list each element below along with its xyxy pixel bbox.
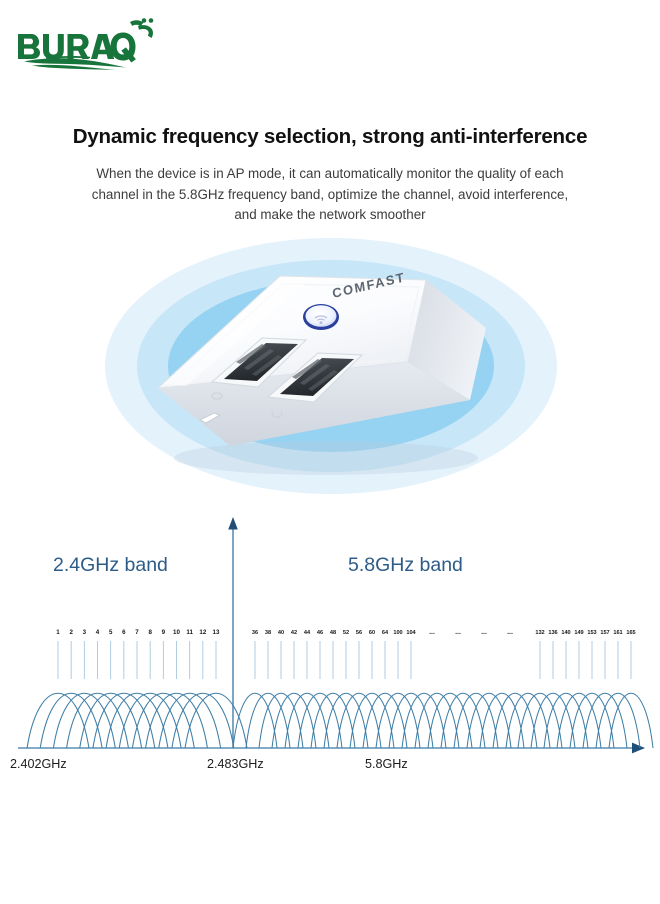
svg-text:36: 36 — [252, 630, 258, 636]
product-showcase: COMFAST — [0, 232, 660, 500]
svg-text:157: 157 — [600, 630, 609, 636]
svg-text:7: 7 — [135, 629, 139, 636]
svg-text:2: 2 — [69, 629, 73, 636]
page-subtitle: When the device is in AP mode, it can au… — [0, 164, 660, 226]
svg-text:6: 6 — [122, 629, 126, 636]
svg-text:...: ... — [429, 629, 435, 636]
svg-text:4: 4 — [96, 629, 100, 636]
svg-text:12: 12 — [199, 629, 206, 636]
svg-text:42: 42 — [291, 630, 297, 636]
page-title: Dynamic frequency selection, strong anti… — [0, 125, 660, 149]
chart-content: 1234567891011121336384042444648525660641… — [27, 629, 653, 748]
spectrum-chart-svg: 1234567891011121336384042444648525660641… — [0, 500, 660, 790]
svg-text:132: 132 — [535, 630, 544, 636]
svg-text:...: ... — [455, 629, 461, 636]
svg-text:1: 1 — [56, 629, 60, 636]
wifi-led-indicator[interactable] — [303, 304, 339, 330]
svg-text:11: 11 — [186, 629, 193, 636]
svg-text:...: ... — [507, 629, 513, 636]
svg-text:149: 149 — [574, 630, 583, 636]
svg-text:48: 48 — [330, 630, 336, 636]
svg-text:136: 136 — [548, 630, 557, 636]
svg-text:153: 153 — [587, 630, 596, 636]
svg-text:10: 10 — [173, 629, 180, 636]
spectrum-chart: 2.4GHz band 5.8GHz band 2.402GHz 2.483GH… — [0, 500, 660, 790]
subtitle-line-3: and make the network smoother — [28, 205, 632, 226]
svg-text:161: 161 — [613, 630, 622, 636]
svg-text:100: 100 — [393, 630, 402, 636]
buraq-logo-svg — [10, 12, 160, 70]
svg-text:60: 60 — [369, 630, 375, 636]
buraq-logo — [10, 12, 160, 70]
svg-text:52: 52 — [343, 630, 349, 636]
wall-ap-illustration: COMFAST — [140, 250, 510, 480]
product-device-image: COMFAST — [140, 250, 510, 480]
svg-text:38: 38 — [265, 630, 271, 636]
svg-text:165: 165 — [626, 630, 635, 636]
svg-text:8: 8 — [148, 629, 152, 636]
svg-text:40: 40 — [278, 630, 284, 636]
svg-text:...: ... — [481, 629, 487, 636]
svg-text:46: 46 — [317, 630, 323, 636]
svg-text:64: 64 — [382, 630, 389, 636]
svg-text:5: 5 — [109, 629, 113, 636]
svg-text:9: 9 — [162, 629, 166, 636]
svg-text:3: 3 — [83, 629, 87, 636]
svg-text:104: 104 — [406, 630, 416, 636]
svg-text:56: 56 — [356, 630, 362, 636]
svg-text:13: 13 — [213, 629, 220, 636]
svg-text:44: 44 — [304, 630, 311, 636]
subtitle-line-1: When the device is in AP mode, it can au… — [28, 164, 632, 185]
svg-text:140: 140 — [561, 630, 570, 636]
subtitle-line-2: channel in the 5.8GHz frequency band, op… — [28, 185, 632, 206]
